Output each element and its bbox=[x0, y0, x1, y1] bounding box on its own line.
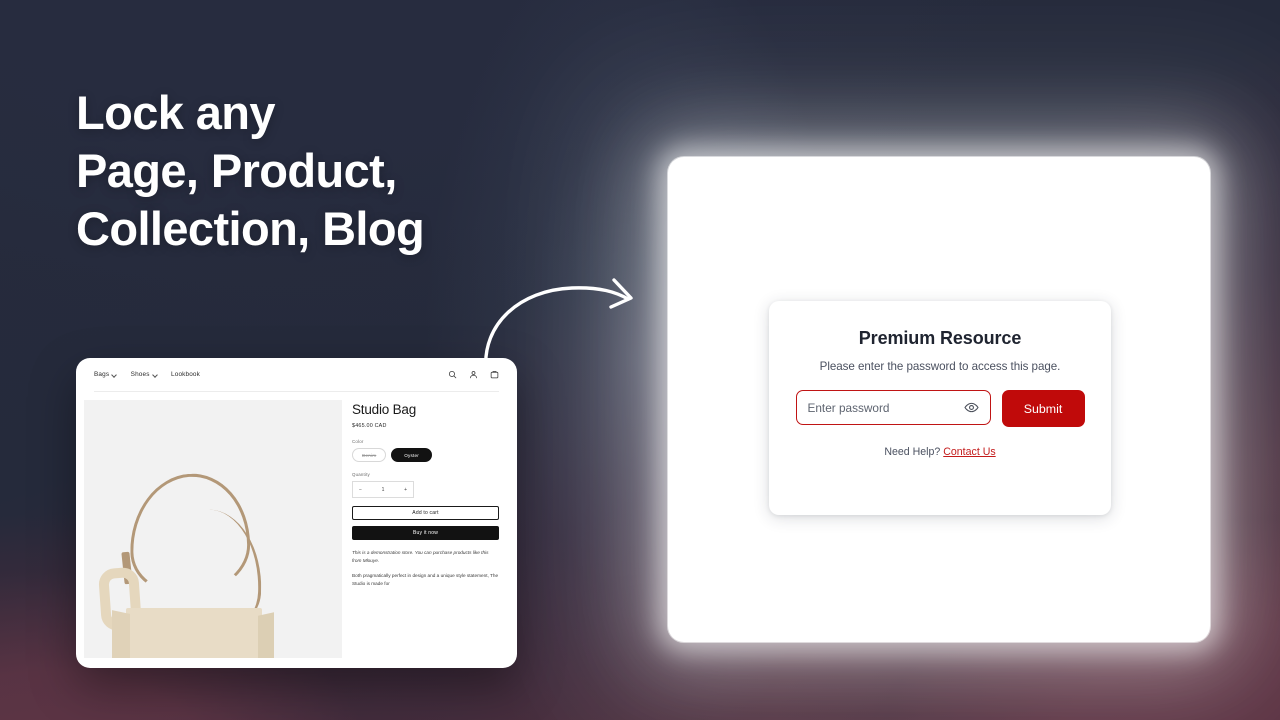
password-input[interactable]: Enter password bbox=[796, 390, 991, 425]
quantity-value: 1 bbox=[382, 487, 385, 493]
contact-us-link[interactable]: Contact Us bbox=[943, 446, 995, 458]
add-to-cart-button[interactable]: Add to cart bbox=[352, 506, 499, 520]
nav-link-bags[interactable]: Bags bbox=[94, 371, 117, 378]
need-help-label: Need Help? bbox=[884, 446, 943, 458]
bag-body bbox=[126, 608, 262, 658]
password-form-row: Enter password Submit bbox=[795, 390, 1085, 427]
color-label: Color bbox=[352, 439, 499, 444]
mock-store-nav: Bags Shoes Lookbook bbox=[76, 358, 517, 391]
color-swatches: Denim Oyster bbox=[352, 448, 499, 462]
page-headline: Lock any Page, Product, Collection, Blog bbox=[76, 84, 424, 258]
password-placeholder: Enter password bbox=[808, 401, 964, 415]
password-modal: Premium Resource Please enter the passwo… bbox=[769, 301, 1111, 515]
product-info: Studio Bag $465.00 CAD Color Denim Oyste… bbox=[352, 400, 499, 658]
product-title: Studio Bag bbox=[352, 402, 499, 417]
nav-link-lookbook[interactable]: Lookbook bbox=[171, 371, 200, 378]
submit-button[interactable]: Submit bbox=[1002, 390, 1085, 427]
nav-link-shoes[interactable]: Shoes bbox=[131, 371, 157, 378]
demo-note-suffix: . bbox=[378, 558, 379, 563]
nav-link-lookbook-label: Lookbook bbox=[171, 371, 200, 378]
quantity-label: Quantity bbox=[352, 472, 499, 477]
quantity-decrement-button[interactable]: − bbox=[359, 487, 362, 493]
need-help-text: Need Help? Contact Us bbox=[795, 446, 1085, 458]
product-page-mockup: Bags Shoes Lookbook bbox=[76, 358, 517, 668]
product-body: Studio Bag $465.00 CAD Color Denim Oyste… bbox=[76, 392, 517, 658]
bag-strap-right bbox=[182, 509, 264, 624]
product-image bbox=[84, 400, 342, 658]
nav-link-shoes-label: Shoes bbox=[131, 371, 150, 378]
buy-it-now-button[interactable]: Buy it now bbox=[352, 526, 499, 540]
quantity-increment-button[interactable]: + bbox=[404, 487, 407, 493]
mock-nav-links: Bags Shoes Lookbook bbox=[94, 371, 200, 378]
chevron-down-icon bbox=[112, 372, 117, 377]
eye-icon[interactable] bbox=[964, 400, 979, 415]
nav-link-bags-label: Bags bbox=[94, 371, 109, 378]
search-icon[interactable] bbox=[448, 370, 457, 379]
product-description: Both pragmatically perfect in design and… bbox=[352, 572, 499, 589]
demo-store-note: This is a demonstration store. You can p… bbox=[352, 549, 499, 565]
modal-title: Premium Resource bbox=[795, 328, 1085, 349]
swatch-denim[interactable]: Denim bbox=[352, 448, 386, 462]
chevron-down-icon bbox=[152, 372, 157, 377]
quantity-stepper[interactable]: − 1 + bbox=[352, 481, 414, 498]
modal-subtitle: Please enter the password to access this… bbox=[795, 360, 1085, 373]
curved-arrow-icon bbox=[468, 262, 648, 377]
product-price: $465.00 CAD bbox=[352, 423, 499, 429]
swatch-oyster[interactable]: Oyster bbox=[391, 448, 432, 462]
mlouye-link[interactable]: Mlouye bbox=[363, 558, 378, 563]
